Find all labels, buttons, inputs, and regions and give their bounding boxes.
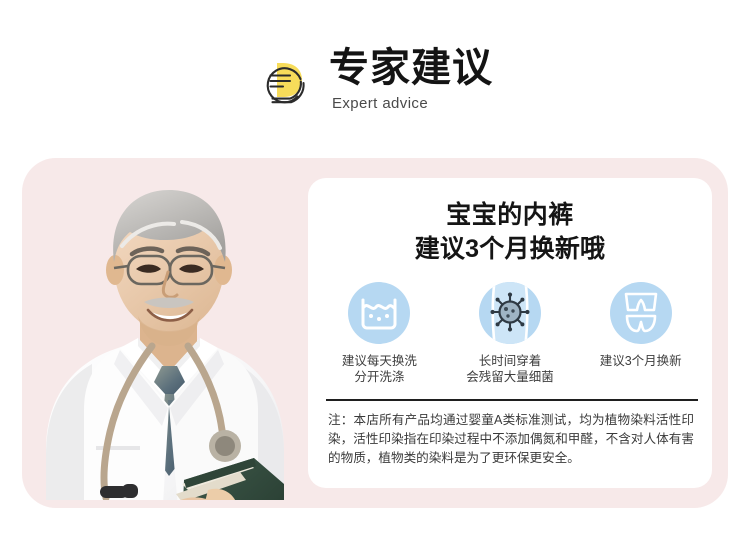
expert-advice-page: 专家建议 Expert advice (0, 0, 750, 553)
advice-card: 宝宝的内裤 建议3个月换新哦 建议每天换洗 分开洗涤 (308, 178, 712, 488)
feature-item-wash: 建议每天换洗 分开洗涤 (326, 282, 433, 385)
feature-label-bacteria: 长时间穿着 会残留大量细菌 (466, 353, 554, 385)
card-divider (326, 399, 698, 401)
card-heading-line-1: 宝宝的内裤 (326, 198, 694, 232)
note-body: 本店所有产品均通过婴童A类标准测试，均为植物染料活性印染，活性印染指在印染过程中… (328, 413, 694, 465)
card-heading: 宝宝的内裤 建议3个月换新哦 (326, 198, 694, 266)
page-subtitle: Expert advice (332, 94, 428, 114)
speech-bubble-lines-icon (257, 54, 315, 112)
feature-label-wash: 建议每天换洗 分开洗涤 (342, 353, 417, 385)
brand-text-block: 专家建议 Expert advice (329, 44, 493, 114)
product-note: 注：本店所有产品均通过婴童A类标准测试，均为植物染料活性印染，活性印染指在印染过… (326, 411, 694, 468)
feature-item-bacteria: 长时间穿着 会残留大量细菌 (457, 282, 564, 385)
card-heading-line-2: 建议3个月换新哦 (326, 232, 694, 266)
underwear-briefs-icon (610, 282, 672, 344)
note-prefix: 注： (328, 413, 354, 427)
bacteria-on-fabric-icon (479, 282, 541, 344)
feature-list: 建议每天换洗 分开洗涤 (326, 282, 694, 385)
page-header: 专家建议 Expert advice (0, 44, 750, 126)
doctor-photo (22, 150, 302, 553)
feature-item-replace: 建议3个月换新 (587, 282, 694, 385)
page-title: 专家建议 (329, 44, 493, 92)
feature-label-replace: 建议3个月换新 (600, 353, 682, 369)
wash-basin-water-icon (348, 282, 410, 344)
